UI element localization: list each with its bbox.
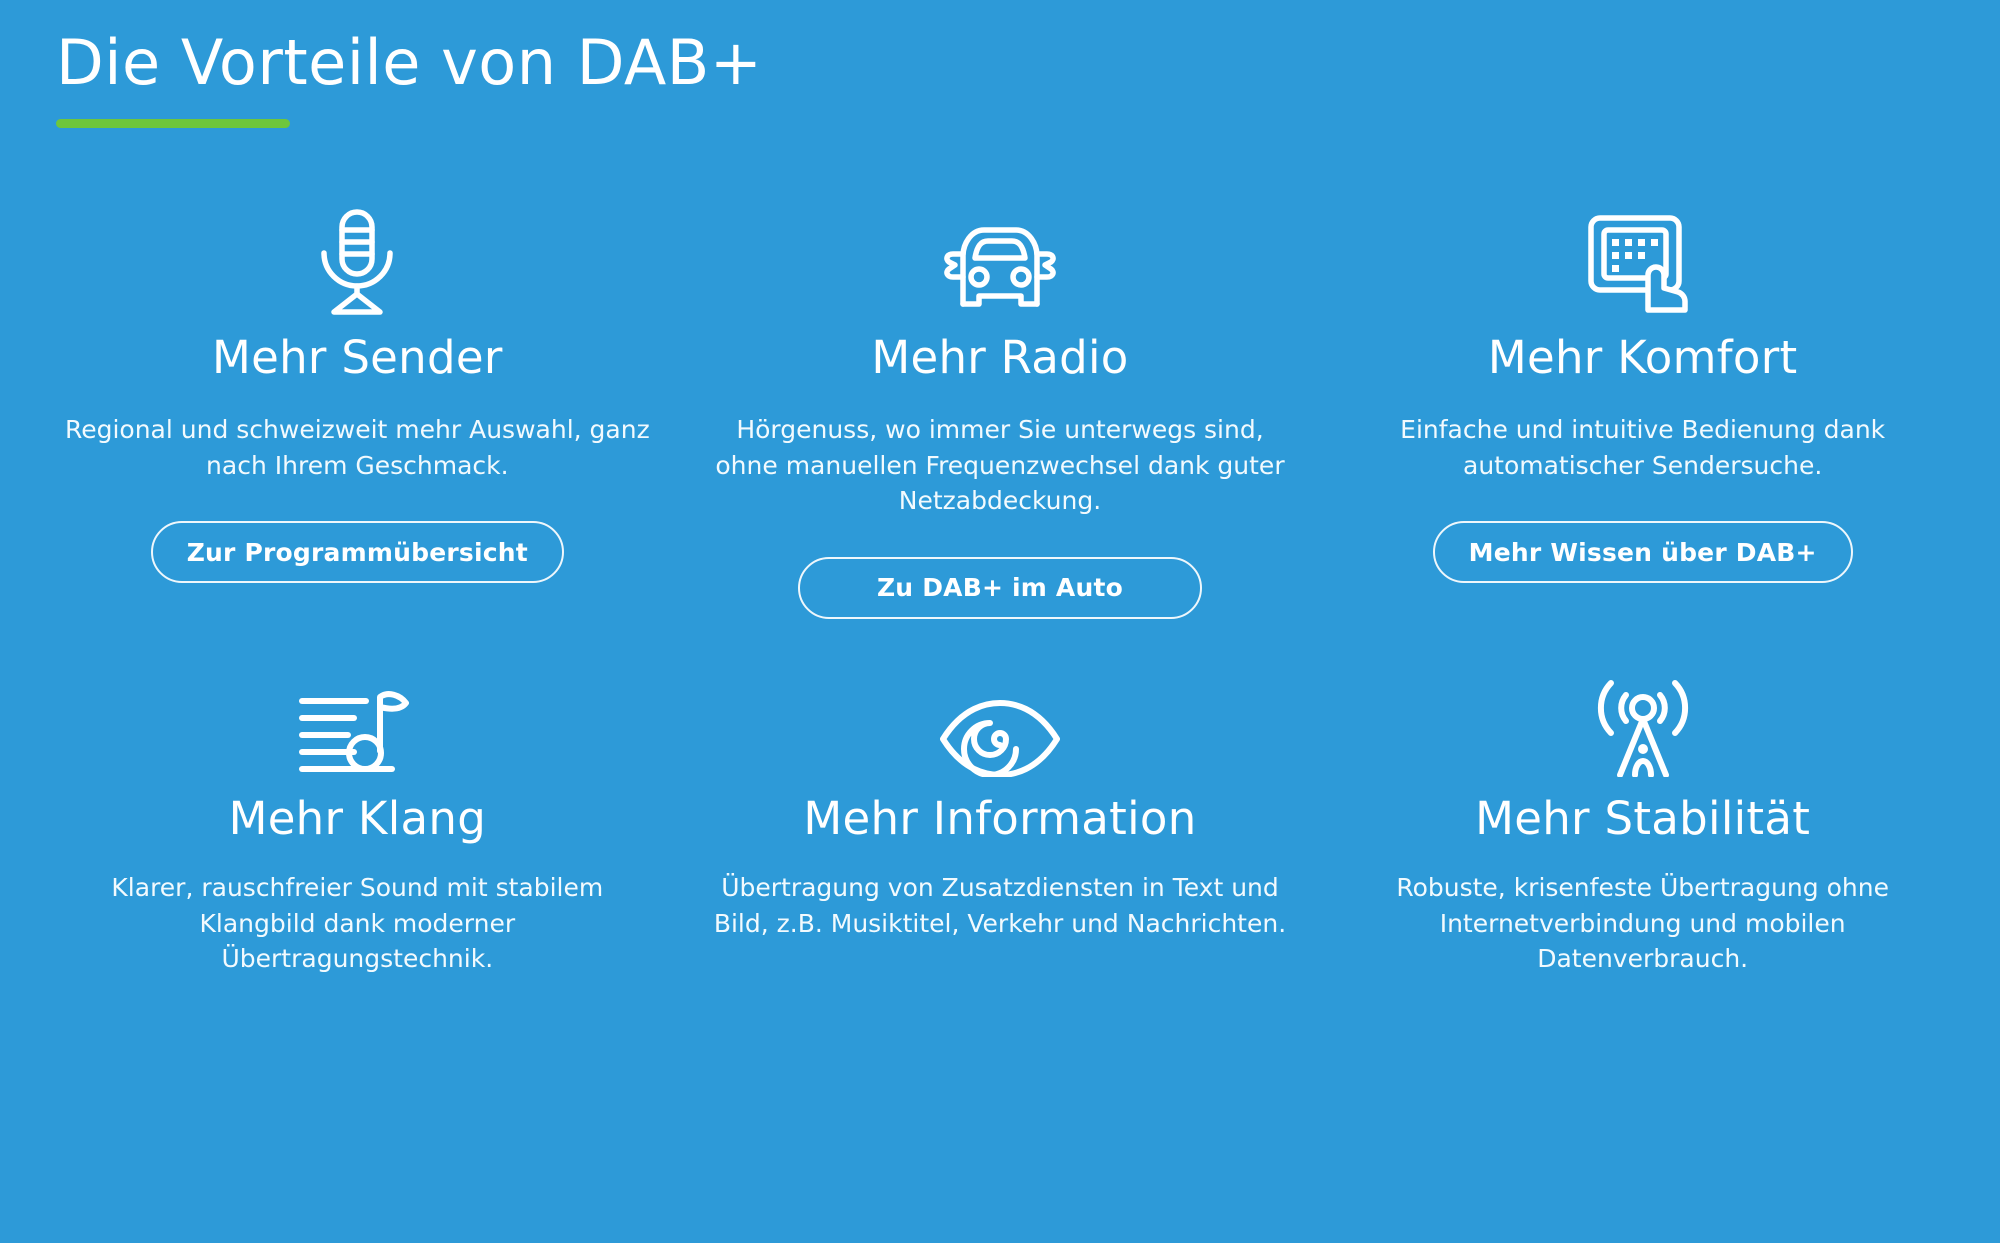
benefit-title: Mehr Komfort <box>1488 332 1798 384</box>
benefit-card-mehr-sender: Mehr Sender Regional und schweizweit meh… <box>36 208 679 620</box>
benefit-title: Mehr Information <box>803 793 1196 845</box>
benefit-cta-wrap: Mehr Wissen über DAB+ <box>1433 519 1853 585</box>
page-title: Die Vorteile von DAB+ <box>56 28 2000 97</box>
benefit-card-mehr-stabilitaet: Mehr Stabilität Robuste, krisenfeste Übe… <box>1321 669 1964 977</box>
benefit-description: Regional und schweizweit mehr Auswahl, g… <box>62 412 653 483</box>
benefit-description: Robuste, krisenfeste Übertragung ohne In… <box>1347 870 1938 977</box>
car-icon <box>939 208 1061 316</box>
benefit-description: Übertragung von Zusatzdiensten in Text u… <box>705 870 1296 941</box>
benefit-description: Einfache und intuitive Bedienung dank au… <box>1347 412 1938 483</box>
broadcast-tower-icon <box>1580 669 1706 777</box>
touchscreen-tablet-icon <box>1585 208 1701 316</box>
benefit-cta-wrap: Zu DAB+ im Auto <box>798 555 1202 621</box>
benefit-description: Klarer, rauschfreier Sound mit stabilem … <box>62 870 653 977</box>
benefit-card-mehr-komfort: Mehr Komfort Einfache und intuitive Bedi… <box>1321 208 1964 620</box>
benefit-description: Hörgenuss, wo immer Sie unterwegs sind, … <box>705 412 1296 519</box>
music-note-staff-icon <box>296 669 418 777</box>
zu-dab-im-auto-button[interactable]: Zu DAB+ im Auto <box>798 557 1202 619</box>
mehr-wissen-ueber-dab-button[interactable]: Mehr Wissen über DAB+ <box>1433 521 1853 583</box>
microphone-icon <box>304 208 410 316</box>
benefits-grid: Mehr Sender Regional und schweizweit meh… <box>0 208 2000 977</box>
page-header: Die Vorteile von DAB+ <box>0 0 2000 128</box>
benefit-card-mehr-radio: Mehr Radio Hörgenuss, wo immer Sie unter… <box>679 208 1322 620</box>
benefit-title: Mehr Klang <box>229 793 487 845</box>
benefit-card-mehr-information: Mehr Information Übertragung von Zusatzd… <box>679 669 1322 977</box>
title-underline-accent <box>56 119 290 128</box>
zur-programmuebersicht-button[interactable]: Zur Programmübersicht <box>151 521 564 583</box>
eye-icon <box>937 669 1063 777</box>
benefit-card-mehr-klang: Mehr Klang Klarer, rauschfreier Sound mi… <box>36 669 679 977</box>
benefit-title: Mehr Radio <box>871 332 1128 384</box>
benefit-title: Mehr Stabilität <box>1475 793 1810 845</box>
benefit-cta-wrap: Zur Programmübersicht <box>151 519 564 585</box>
benefit-title: Mehr Sender <box>212 332 503 384</box>
dab-benefits-page: Die Vorteile von DAB+ Mehr Sender Region… <box>0 0 2000 1243</box>
